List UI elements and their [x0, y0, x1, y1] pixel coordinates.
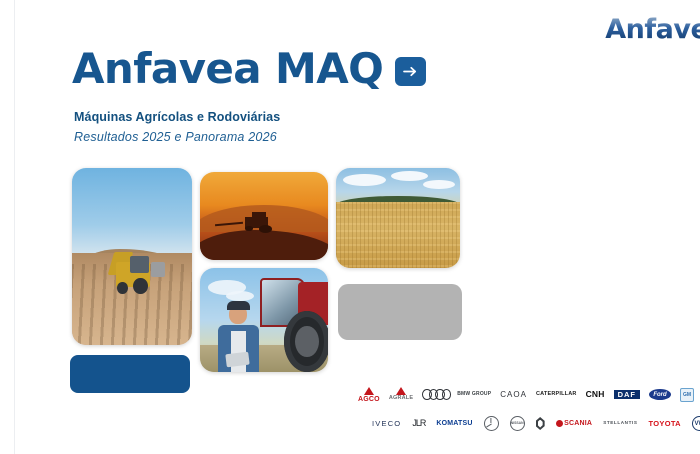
- mercedes-benz-logo: [484, 416, 499, 431]
- title-row: Anfavea MAQ: [72, 48, 426, 90]
- bmw-group-logo: BMW GROUP: [457, 388, 491, 402]
- gm-logo: GM: [680, 388, 694, 402]
- nissan-logo: NISSAN: [510, 416, 525, 431]
- photo-backhoe-loader: [72, 168, 192, 345]
- agrale-logo: AGRALE: [389, 388, 413, 402]
- sunset-tractor-icon: [233, 212, 277, 231]
- wheat-cloud: [423, 180, 455, 189]
- iveco-logo: IVECO: [372, 417, 401, 431]
- agco-logo: AGCO: [358, 388, 380, 402]
- jlr-logo: JLR: [412, 417, 425, 431]
- photo-wheat-field: [336, 168, 460, 268]
- caterpillar-logo: CATERPILLAR: [536, 388, 577, 402]
- audi-logo: [422, 389, 448, 400]
- left-edge-rule: [14, 0, 15, 454]
- photo-tractor-sunset: [200, 172, 328, 260]
- stellantis-logo: STELLANTIS: [603, 417, 637, 431]
- sub-subtitle: Resultados 2025 e Panorama 2026: [74, 130, 277, 144]
- cnh-logo: CNH: [586, 388, 605, 402]
- arrow-right-icon: [403, 65, 418, 78]
- daf-logo: DAF: [614, 388, 640, 402]
- photo-farmer-tractor: [200, 268, 328, 372]
- scania-logo: SCANIA: [556, 417, 593, 431]
- subtitle: Máquinas Agrícolas e Rodoviárias: [74, 110, 280, 124]
- farmer-figure-icon: [213, 299, 264, 372]
- caoa-logo: CAOA: [500, 388, 527, 402]
- member-logo-row-1: AGCO AGRALE BMW GROUP CAOA CATERPILLAR C…: [358, 380, 700, 409]
- backhoe-machine-icon: [108, 249, 163, 291]
- toyota-logo: TOYOTA: [649, 417, 681, 431]
- renault-logo: [536, 417, 545, 430]
- ford-logo: Ford: [649, 389, 671, 400]
- member-logo-row-2: IVECO JLR KOMATSU NISSAN SCANIA STELLANT…: [358, 409, 700, 438]
- red-tractor-icon: [254, 274, 328, 372]
- volkswagen-logo: VW: [692, 416, 700, 431]
- member-logo-strip: AGCO AGRALE BMW GROUP CAOA CATERPILLAR C…: [358, 380, 700, 438]
- wheat-cloud: [343, 174, 385, 186]
- slide-root: Anfavea Anfavea MAQ Máquinas Agrícolas e…: [0, 0, 700, 454]
- placeholder-gray-box: [338, 284, 462, 340]
- wheat-crop: [336, 202, 460, 268]
- placeholder-blue-box: [70, 355, 190, 393]
- page-title: Anfavea MAQ: [72, 48, 383, 90]
- komatsu-logo: KOMATSU: [436, 417, 472, 431]
- wheat-cloud: [391, 171, 428, 181]
- anfavea-logo: Anfavea: [605, 14, 700, 44]
- arrow-right-button[interactable]: [395, 57, 426, 86]
- anfavea-logo-text: Anfavea: [605, 16, 700, 43]
